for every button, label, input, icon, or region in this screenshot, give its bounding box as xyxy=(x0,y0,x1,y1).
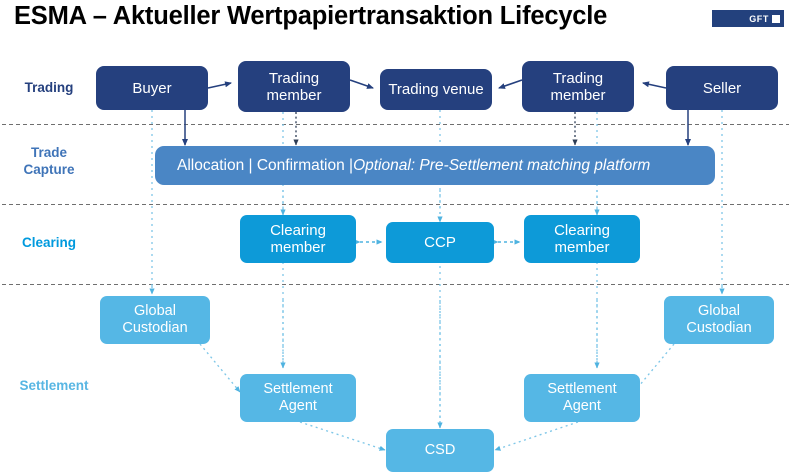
trade-capture-drop-dotted xyxy=(296,112,575,145)
node-trading-venue[interactable]: Trading venue xyxy=(380,69,492,110)
lane-label-trade-capture: Trade Capture xyxy=(6,144,92,178)
lane-label-settlement: Settlement xyxy=(2,377,106,394)
node-csd[interactable]: CSD xyxy=(386,429,494,472)
node-trading-member-buy[interactable]: Trading member xyxy=(238,61,350,112)
gft-logo-text: GFT xyxy=(749,14,769,24)
node-ccp[interactable]: CCP xyxy=(386,222,494,263)
node-clearing-member-buy[interactable]: Clearing member xyxy=(240,215,356,263)
node-seller[interactable]: Seller xyxy=(666,66,778,110)
settlement-link xyxy=(152,286,722,450)
node-buyer[interactable]: Buyer xyxy=(96,66,208,110)
node-settlement-agent-right[interactable]: Settlement Agent xyxy=(524,374,640,422)
node-settlement-agent-left[interactable]: Settlement Agent xyxy=(240,374,356,422)
trade-capture-optional: Optional: Pre-Settlement matching platfo… xyxy=(353,157,650,174)
gft-logo: GFT xyxy=(712,10,784,27)
lane-label-trading: Trading xyxy=(6,79,92,96)
page-title: ESMA – Aktueller Wertpapiertransaktion L… xyxy=(14,2,694,31)
trade-capture-drop xyxy=(185,110,688,145)
slide-canvas: ESMA – Aktueller Wertpapiertransaktion L… xyxy=(0,0,791,475)
node-global-custodian-left[interactable]: Global Custodian xyxy=(100,296,210,344)
node-global-custodian-right[interactable]: Global Custodian xyxy=(664,296,774,344)
trade-capture-prefix: Allocation | Confirmation | xyxy=(177,157,353,174)
node-clearing-member-sell[interactable]: Clearing member xyxy=(524,215,640,263)
node-trading-member-sell[interactable]: Trading member xyxy=(522,61,634,112)
gft-square-icon xyxy=(772,15,780,23)
node-trade-capture-platform[interactable]: Allocation | Confirmation | Optional: Pr… xyxy=(155,146,715,185)
lane-label-clearing: Clearing xyxy=(6,234,92,251)
